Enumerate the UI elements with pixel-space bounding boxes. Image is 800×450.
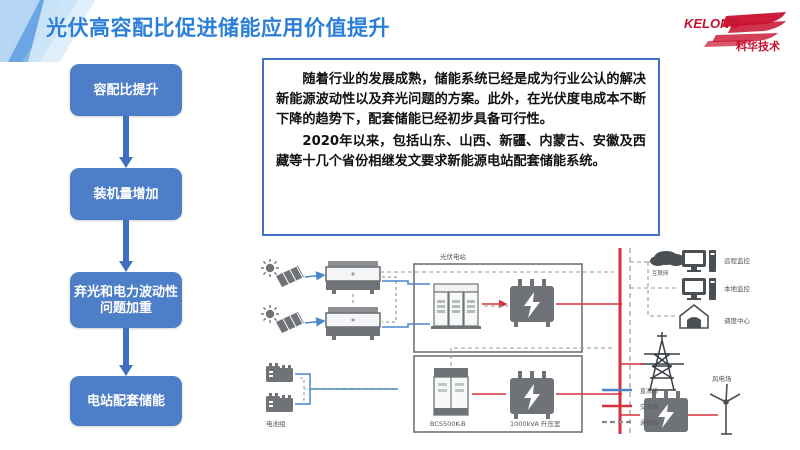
kelong-logo: KELONG 科华技术 xyxy=(682,8,790,54)
transformer-label: 1000kVA 升压室 xyxy=(510,419,561,428)
remote-monitor-icon xyxy=(682,250,716,272)
ac-line-inv1 xyxy=(382,281,430,284)
solar-panel-icon-2 xyxy=(261,305,304,333)
flow-step-2[interactable]: 装机量增加 xyxy=(70,168,182,220)
inverter-icon-2 xyxy=(326,307,380,340)
flow-step-3-label: 弃光和电力波动性问题加重 xyxy=(70,284,182,317)
description-paragraph-2: 2020年以来，包括山东、山西、新疆、内蒙古、安徽及西藏等十几个省份相继发文要求… xyxy=(276,132,646,172)
description-text-box: 随着行业的发展成熟，储能系统已经是成为行业公认的解决新能源波动性以及弃光问题的方… xyxy=(262,58,660,236)
logo-latin-text: KELONG xyxy=(684,16,740,31)
description-paragraph-1: 随着行业的发展成熟，储能系统已经是成为行业公认的解决新能源波动性以及弃光问题的方… xyxy=(276,70,646,130)
flow-chart: 容配比提升 装机量增加 弃光和电力波动性问题加重 电站配套储能 xyxy=(62,64,192,409)
flow-arrow-1 xyxy=(119,116,133,168)
transmission-tower-icon xyxy=(640,332,684,390)
page-title: 光伏高容配比促进储能应用价值提升 xyxy=(46,12,390,42)
flow-arrow-3 xyxy=(119,328,133,376)
flow-step-1[interactable]: 容配比提升 xyxy=(70,64,182,116)
pv-plant-label: 光伏电站 xyxy=(440,252,467,261)
legend-label-comm: 通信线 xyxy=(640,419,658,427)
ac-line-inv2 xyxy=(382,324,430,327)
pcs-label: BCS500K-B xyxy=(430,420,466,428)
inverter-icon-1 xyxy=(326,261,380,294)
flow-step-4[interactable]: 电站配套储能 xyxy=(70,376,182,426)
local-monitor-icon xyxy=(682,278,716,300)
transformer-icon-ess xyxy=(510,371,554,419)
battery-icon-2 xyxy=(266,393,293,412)
dispatch-center-icon xyxy=(680,305,708,328)
flow-step-3[interactable]: 弃光和电力波动性问题加重 xyxy=(70,272,182,328)
wind-turbine-icon xyxy=(710,384,740,434)
battery-icon-1 xyxy=(266,363,293,382)
local-monitor-label: 本地监控 xyxy=(724,284,751,293)
solar-panel-icon-1 xyxy=(261,259,304,287)
flow-step-4-label: 电站配套储能 xyxy=(87,393,165,409)
slide-canvas: 光伏高容配比促进储能应用价值提升 KELONG 科华技术 容配比提升 装机量增加 xyxy=(0,0,800,450)
legend-label-dc: 直流线 xyxy=(640,387,658,395)
legend-label-ac: 交流线 xyxy=(640,403,658,411)
internet-cloud-icon xyxy=(650,251,685,266)
dc-line-pv2 xyxy=(305,321,324,323)
internet-label: 互联网 xyxy=(652,269,669,277)
logo-chinese-text: 科华技术 xyxy=(736,39,780,53)
switchgear-icon xyxy=(431,284,481,329)
flow-arrow-2 xyxy=(119,220,133,272)
transformer-icon-pv xyxy=(510,279,554,327)
battery-bank-label: 电池组 xyxy=(266,419,286,428)
dc-line-pv1 xyxy=(305,275,324,277)
remote-monitor-label: 远程监控 xyxy=(724,256,751,265)
dispatch-center-label: 调度中心 xyxy=(724,316,751,325)
wind-farm-label: 风电场 xyxy=(712,374,732,383)
flow-step-2-label: 装机量增加 xyxy=(93,186,158,202)
system-architecture-diagram: 光伏电站 xyxy=(248,244,796,440)
flow-step-1-label: 容配比提升 xyxy=(93,82,158,98)
pcs-cabinet-icon xyxy=(434,368,468,415)
